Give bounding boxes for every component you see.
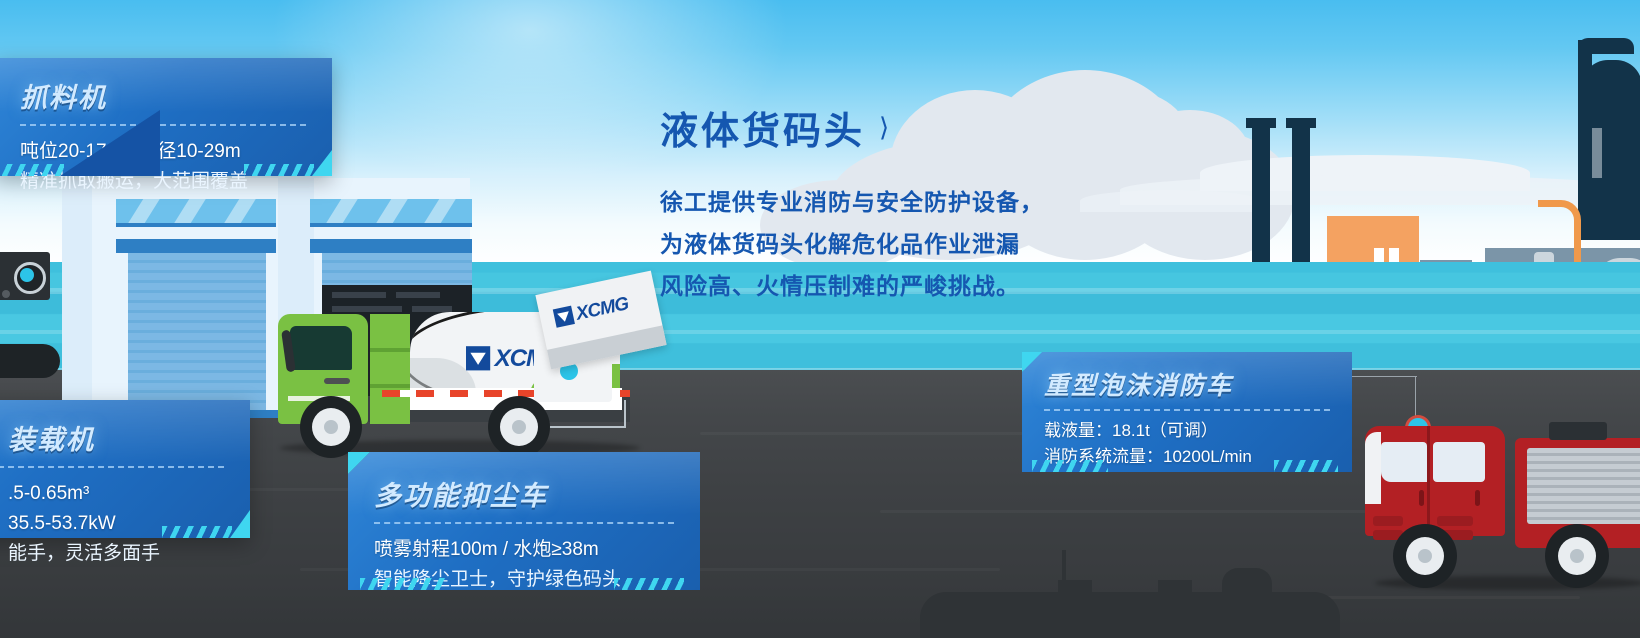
chevron-right-icon[interactable]: ⟩ — [879, 112, 892, 143]
silhouette-tank-hatch-1 — [1058, 580, 1092, 594]
column-stack — [1578, 40, 1592, 240]
card-stripes-bottom-right — [1274, 460, 1338, 472]
silhouette-tank-mast — [1062, 550, 1066, 582]
warehouse-shelf-1 — [332, 292, 386, 298]
card-line-desc: 能手，灵活多面手 — [0, 539, 224, 569]
silhouette-tank-hatch-2 — [1158, 580, 1192, 594]
chimney-right — [1292, 122, 1310, 282]
card-line-capacity: 载液量：18.1t（可调） — [1044, 418, 1330, 444]
card-stripes-bottom-left — [360, 578, 446, 590]
warehouse-shelf-3 — [332, 306, 402, 312]
card-stripes-bottom-left — [0, 164, 64, 176]
card-corner-accent — [230, 510, 250, 538]
hero-title-row[interactable]: 液体货码头 ⟩ — [660, 100, 1130, 155]
hero-paragraph-line-2: 为液体货码头化解危化品作业泄漏 — [660, 223, 1130, 265]
card-divider — [374, 522, 674, 524]
card-stripes-bottom-right — [162, 526, 232, 538]
hero-text-block: 液体货码头 ⟩ 徐工提供专业消防与安全防护设备， 为液体货码头化解危化品作业泄漏… — [660, 100, 1130, 307]
card-divider — [0, 466, 224, 468]
chimney-left-cap — [1246, 118, 1276, 128]
warehouse-window-right — [310, 199, 472, 225]
card-corner-accent — [312, 150, 332, 176]
card-stripes-bottom-right — [614, 578, 684, 590]
warehouse-shelf-4 — [412, 306, 452, 312]
warehouse-shelf-2 — [396, 292, 440, 298]
xcmg-triangle-icon — [466, 346, 490, 370]
column-band — [1592, 128, 1602, 178]
chimney-left — [1252, 122, 1270, 282]
hero-paragraph-line-3: 风险高、火情压制难的严峻挑战。 — [660, 265, 1130, 307]
card-title-dust-truck: 多功能抑尘车 — [374, 474, 674, 513]
warehouse-window-left — [116, 199, 276, 225]
info-card-dust-suppression-truck[interactable]: 多功能抑尘车 喷雾射程100m / 水炮≥38m 智能降尘卫士，守护绿色码头 — [348, 452, 700, 590]
info-card-grab-machine[interactable]: 抓料机 吨位20-170t / 半径10-29m 精准抓取搬运，大范围覆盖 — [0, 58, 332, 176]
warehouse-pillar-left — [62, 178, 92, 418]
card-stripes-bottom-right — [244, 164, 314, 176]
info-card-loader[interactable]: 装载机 .5-0.65m³ 35.5-53.7kW 能手，灵活多面手 — [0, 400, 250, 538]
card-line-bucket: .5-0.65m³ — [0, 479, 224, 509]
card-pointer-grab-machine — [60, 110, 160, 176]
signboard-xcmg-wordmark: XCMG — [574, 292, 630, 325]
hero-paragraph-line-1: 徐工提供专业消防与安全防护设备， — [660, 181, 1130, 223]
card-title-loader: 装载机 — [0, 418, 224, 457]
warehouse-door-header-right — [310, 239, 472, 253]
silhouette-tank-pipe — [1222, 568, 1272, 596]
column-stack-top — [1578, 38, 1634, 54]
card-stripes-bottom-left — [1032, 460, 1108, 472]
warehouse-window-left-frame — [116, 223, 276, 227]
warehouse-window-right-frame — [310, 223, 472, 227]
hero-paragraph: 徐工提供专业消防与安全防护设备， 为液体货码头化解危化品作业泄漏 风险高、火情压… — [660, 181, 1130, 307]
card-title-fire-truck: 重型泡沫消防车 — [1044, 366, 1330, 402]
silhouette-tank-body — [920, 592, 1340, 638]
info-card-heavy-foam-fire-truck[interactable]: 重型泡沫消防车 载液量：18.1t（可调） 消防系统流量：10200L/min … — [1022, 352, 1352, 472]
warehouse-door-header-left — [116, 239, 276, 253]
card-divider — [1044, 409, 1330, 411]
page-title: 液体货码头 — [660, 100, 865, 155]
scene-banner: XCMG XCMG — [0, 0, 1640, 638]
card-line-spray: 喷雾射程100m / 水炮≥38m — [374, 535, 674, 565]
warehouse-roller-door-left — [128, 253, 266, 413]
chimney-right-cap — [1286, 118, 1316, 128]
signboard-xcmg-triangle-icon — [553, 306, 575, 328]
